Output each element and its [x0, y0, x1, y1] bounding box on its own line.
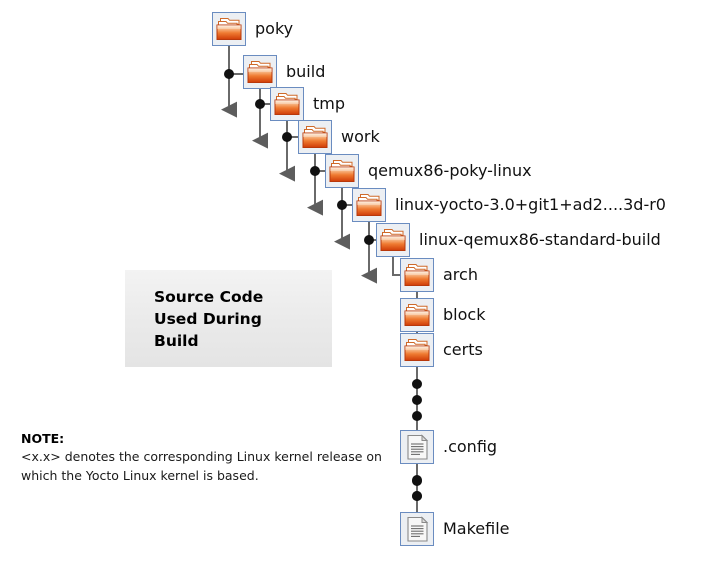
tree-node-block[interactable]: block: [400, 298, 485, 332]
folder-icon: [376, 223, 410, 257]
tree-node-certs[interactable]: certs: [400, 333, 483, 367]
tree-node-work[interactable]: work: [298, 120, 380, 154]
folder-icon: [400, 333, 434, 367]
folder-icon: [270, 87, 304, 121]
tree-node-standardbld[interactable]: linux-qemux86-standard-build: [376, 223, 661, 257]
tree-node-makefile[interactable]: Makefile: [400, 512, 510, 546]
tree-node-label: work: [341, 129, 380, 145]
folder-icon: [400, 298, 434, 332]
diagram-canvas: Source Code Used During Build NOTE: <x.x…: [0, 0, 705, 581]
callout-line-2: Used During: [154, 308, 332, 330]
folder-icon: [400, 258, 434, 292]
tree-node-label: build: [286, 64, 325, 80]
tree-node-linuxyocto[interactable]: linux-yocto-3.0+git1+ad2....3d-r0: [352, 188, 666, 222]
callout-line-3: Build: [154, 330, 332, 352]
connector-layer: [0, 0, 705, 581]
tree-node-label: qemux86-poky-linux: [368, 163, 532, 179]
tree-node-label: arch: [443, 267, 478, 283]
note-title: NOTE:: [21, 430, 391, 448]
tree-node-arch[interactable]: arch: [400, 258, 478, 292]
note-line-2: which the Yocto Linux kernel is based.: [21, 467, 391, 486]
file-icon: [400, 512, 434, 546]
folder-icon: [212, 12, 246, 46]
folder-icon: [243, 55, 277, 89]
tree-node-config[interactable]: .config: [400, 430, 497, 464]
tree-node-tmp[interactable]: tmp: [270, 87, 345, 121]
tree-node-qemux86[interactable]: qemux86-poky-linux: [325, 154, 532, 188]
source-code-callout: Source Code Used During Build: [125, 270, 332, 367]
tree-node-label: Makefile: [443, 521, 510, 537]
note-line-1: <x.x> denotes the corresponding Linux ke…: [21, 448, 391, 467]
folder-icon: [352, 188, 386, 222]
tree-node-label: poky: [255, 21, 293, 37]
tree-node-label: linux-qemux86-standard-build: [419, 232, 661, 248]
folder-icon: [325, 154, 359, 188]
folder-icon: [298, 120, 332, 154]
tree-node-build[interactable]: build: [243, 55, 325, 89]
tree-node-label: certs: [443, 342, 483, 358]
tree-node-label: linux-yocto-3.0+git1+ad2....3d-r0: [395, 197, 666, 213]
note-block: NOTE: <x.x> denotes the corresponding Li…: [21, 430, 391, 486]
tree-node-label: block: [443, 307, 485, 323]
tree-node-label: .config: [443, 439, 497, 455]
callout-line-1: Source Code: [154, 286, 332, 308]
file-icon: [400, 430, 434, 464]
tree-node-poky[interactable]: poky: [212, 12, 293, 46]
tree-node-label: tmp: [313, 96, 345, 112]
